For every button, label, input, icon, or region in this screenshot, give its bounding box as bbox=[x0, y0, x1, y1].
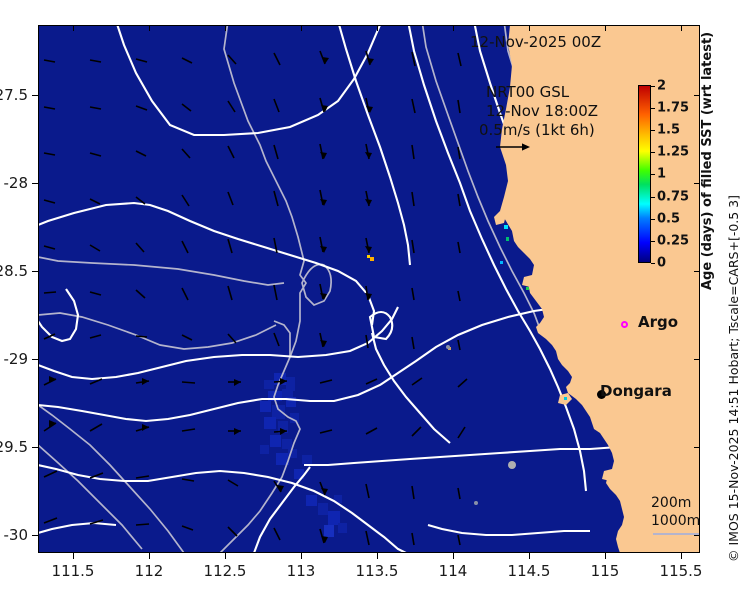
y-tick-label-4: -29.5 bbox=[0, 438, 28, 456]
x-tick-label-0: 111.5 bbox=[52, 562, 95, 580]
depth-legend-200m-label: 200m bbox=[651, 495, 691, 511]
current-scale-label: 0.5m/s (1kt 6h) bbox=[479, 121, 595, 139]
colorbar-tick-label-2: 0.5 bbox=[657, 212, 680, 227]
colorbar-tick-label-4: 1 bbox=[657, 167, 666, 182]
colorbar-tick-label-6: 1.5 bbox=[657, 123, 680, 138]
colorbar-tick-label-7: 1.75 bbox=[657, 101, 689, 116]
argo-marker[interactable] bbox=[621, 321, 628, 328]
x-tick-label-4: 113.5 bbox=[356, 562, 399, 580]
argo-label: Argo bbox=[638, 313, 678, 331]
current-model-label: NRT00 GSL bbox=[486, 83, 569, 101]
sst-age-map[interactable]: 12-Nov-2025 00Z NRT00 GSL 12-Nov 18:00Z … bbox=[38, 25, 700, 553]
credit-text: © IMOS 15-Nov-2025 14:51 Hobart; Tscale=… bbox=[726, 195, 740, 562]
colorbar-tick-label-8: 2 bbox=[657, 79, 666, 94]
colorbar[interactable] bbox=[638, 85, 651, 263]
x-tick-label-6: 114.5 bbox=[508, 562, 551, 580]
y-tick-label-2: -28.5 bbox=[0, 262, 28, 280]
x-tick-label-2: 112.5 bbox=[204, 562, 247, 580]
colorbar-title: Age (days) of filled SST (wrt latest) bbox=[700, 32, 715, 290]
colorbar-tick-label-1: 0.25 bbox=[657, 234, 689, 249]
current-time-label: 12-Nov 18:00Z bbox=[486, 102, 598, 120]
colorbar-tick-label-0: 0 bbox=[657, 256, 666, 271]
x-tick-label-3: 113 bbox=[287, 562, 316, 580]
x-tick-label-5: 114 bbox=[439, 562, 468, 580]
colorbar-tick-label-3: 0.75 bbox=[657, 190, 689, 205]
colorbar-tick-label-5: 1.25 bbox=[657, 145, 689, 160]
map-svg bbox=[38, 25, 700, 553]
y-tick-label-5: -30 bbox=[0, 526, 28, 544]
depth-legend-1000m-label: 1000m bbox=[651, 513, 700, 529]
y-tick-label-1: -28 bbox=[0, 174, 28, 192]
current-scale-reference-arrow bbox=[494, 140, 534, 154]
y-tick-label-3: -29 bbox=[0, 350, 28, 368]
valid-time-label: 12-Nov-2025 00Z bbox=[470, 33, 601, 51]
depth-legend-200m-line bbox=[653, 533, 699, 535]
y-tick-label-0: -27.5 bbox=[0, 86, 28, 104]
x-tick-label-8: 115.5 bbox=[660, 562, 703, 580]
figure-canvas: 12-Nov-2025 00Z NRT00 GSL 12-Nov 18:00Z … bbox=[0, 0, 740, 592]
dongara-label: Dongara bbox=[600, 382, 672, 400]
x-tick-label-1: 112 bbox=[135, 562, 164, 580]
x-tick-label-7: 115 bbox=[591, 562, 620, 580]
